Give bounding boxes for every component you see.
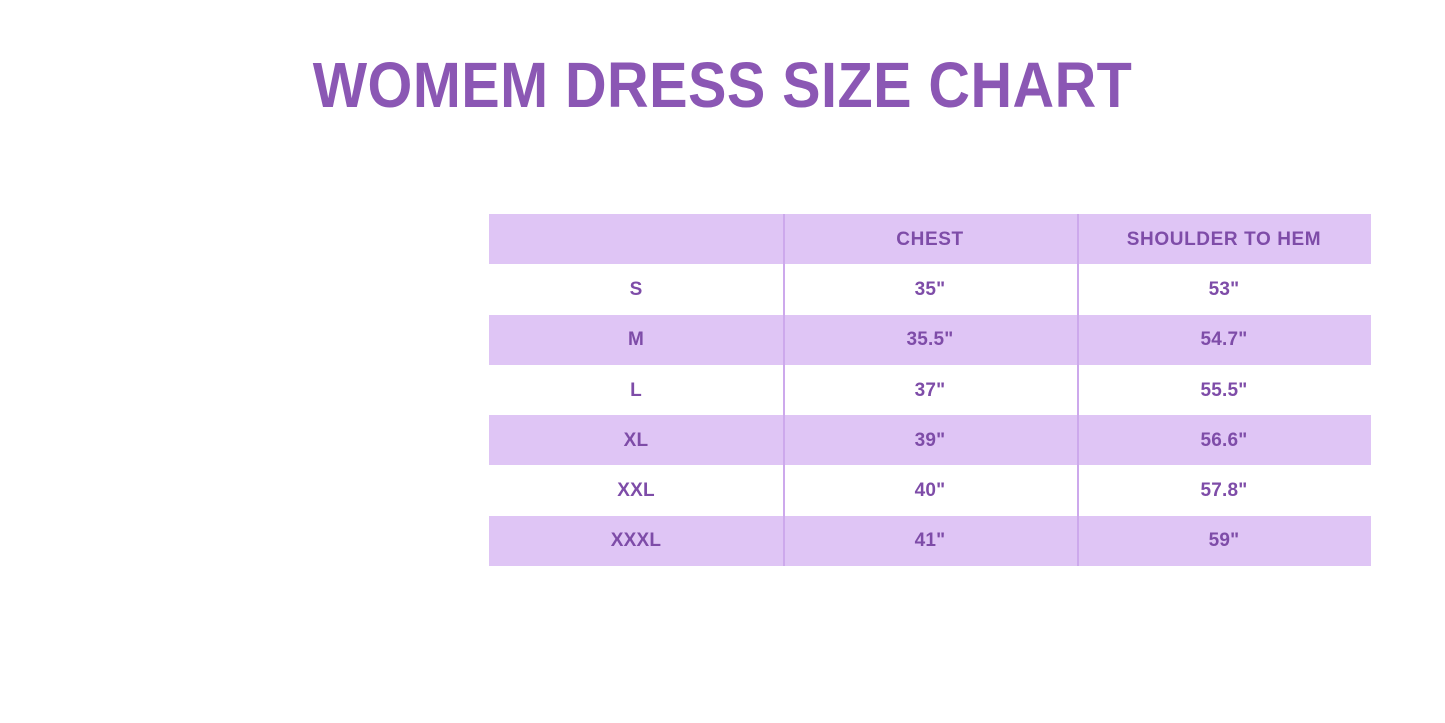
cell-size: XXXL — [489, 516, 783, 566]
cell-shoulder-to-hem-value: 53" — [1077, 280, 1371, 299]
cell-size: XL — [489, 415, 783, 465]
cell-size-label: S — [489, 280, 783, 299]
table-row: S 35" 53" — [489, 264, 1371, 314]
cell-shoulder-to-hem: 53" — [1077, 264, 1371, 314]
cell-chest: 37" — [783, 365, 1077, 415]
page-title: WOMEM DRESS SIZE CHART — [72, 52, 1373, 118]
cell-shoulder-to-hem: 54.7" — [1077, 315, 1371, 365]
cell-size-label: M — [489, 330, 783, 349]
cell-chest-value: 41" — [783, 531, 1077, 550]
cell-size-label: XXXL — [489, 531, 783, 550]
size-chart-page: WOMEM DRESS SIZE CHART CHEST SHOULDER TO… — [0, 0, 1445, 723]
column-header-shoulder-to-hem-label: SHOULDER TO HEM — [1077, 230, 1371, 249]
cell-chest: 40" — [783, 465, 1077, 515]
cell-chest-value: 39" — [783, 431, 1077, 450]
cell-size: S — [489, 264, 783, 314]
table-header-row: CHEST SHOULDER TO HEM — [489, 214, 1371, 264]
table-row: XL 39" 56.6" — [489, 415, 1371, 465]
cell-size-label: XXL — [489, 481, 783, 500]
cell-chest-value: 35.5" — [783, 330, 1077, 349]
cell-shoulder-to-hem-value: 57.8" — [1077, 481, 1371, 500]
table-row: M 35.5" 54.7" — [489, 315, 1371, 365]
cell-shoulder-to-hem: 56.6" — [1077, 415, 1371, 465]
cell-chest: 35" — [783, 264, 1077, 314]
cell-chest-value: 37" — [783, 381, 1077, 400]
cell-shoulder-to-hem-value: 55.5" — [1077, 381, 1371, 400]
cell-size: XXL — [489, 465, 783, 515]
column-header-chest-label: CHEST — [783, 230, 1077, 249]
column-header-chest: CHEST — [783, 214, 1077, 264]
cell-shoulder-to-hem-value: 54.7" — [1077, 330, 1371, 349]
cell-shoulder-to-hem: 55.5" — [1077, 365, 1371, 415]
cell-size: M — [489, 315, 783, 365]
cell-shoulder-to-hem: 57.8" — [1077, 465, 1371, 515]
table-row: L 37" 55.5" — [489, 365, 1371, 415]
cell-shoulder-to-hem-value: 56.6" — [1077, 431, 1371, 450]
cell-shoulder-to-hem-value: 59" — [1077, 531, 1371, 550]
cell-chest: 35.5" — [783, 315, 1077, 365]
cell-size-label: XL — [489, 431, 783, 450]
column-header-shoulder-to-hem: SHOULDER TO HEM — [1077, 214, 1371, 264]
table-row: XXL 40" 57.8" — [489, 465, 1371, 515]
column-header-size — [489, 214, 783, 264]
cell-chest-value: 35" — [783, 280, 1077, 299]
cell-chest-value: 40" — [783, 481, 1077, 500]
cell-chest: 39" — [783, 415, 1077, 465]
cell-shoulder-to-hem: 59" — [1077, 516, 1371, 566]
table-row: XXXL 41" 59" — [489, 516, 1371, 566]
cell-size-label: L — [489, 381, 783, 400]
cell-size: L — [489, 365, 783, 415]
cell-chest: 41" — [783, 516, 1077, 566]
size-chart-table: CHEST SHOULDER TO HEM S 35" 53" — [489, 214, 1371, 566]
